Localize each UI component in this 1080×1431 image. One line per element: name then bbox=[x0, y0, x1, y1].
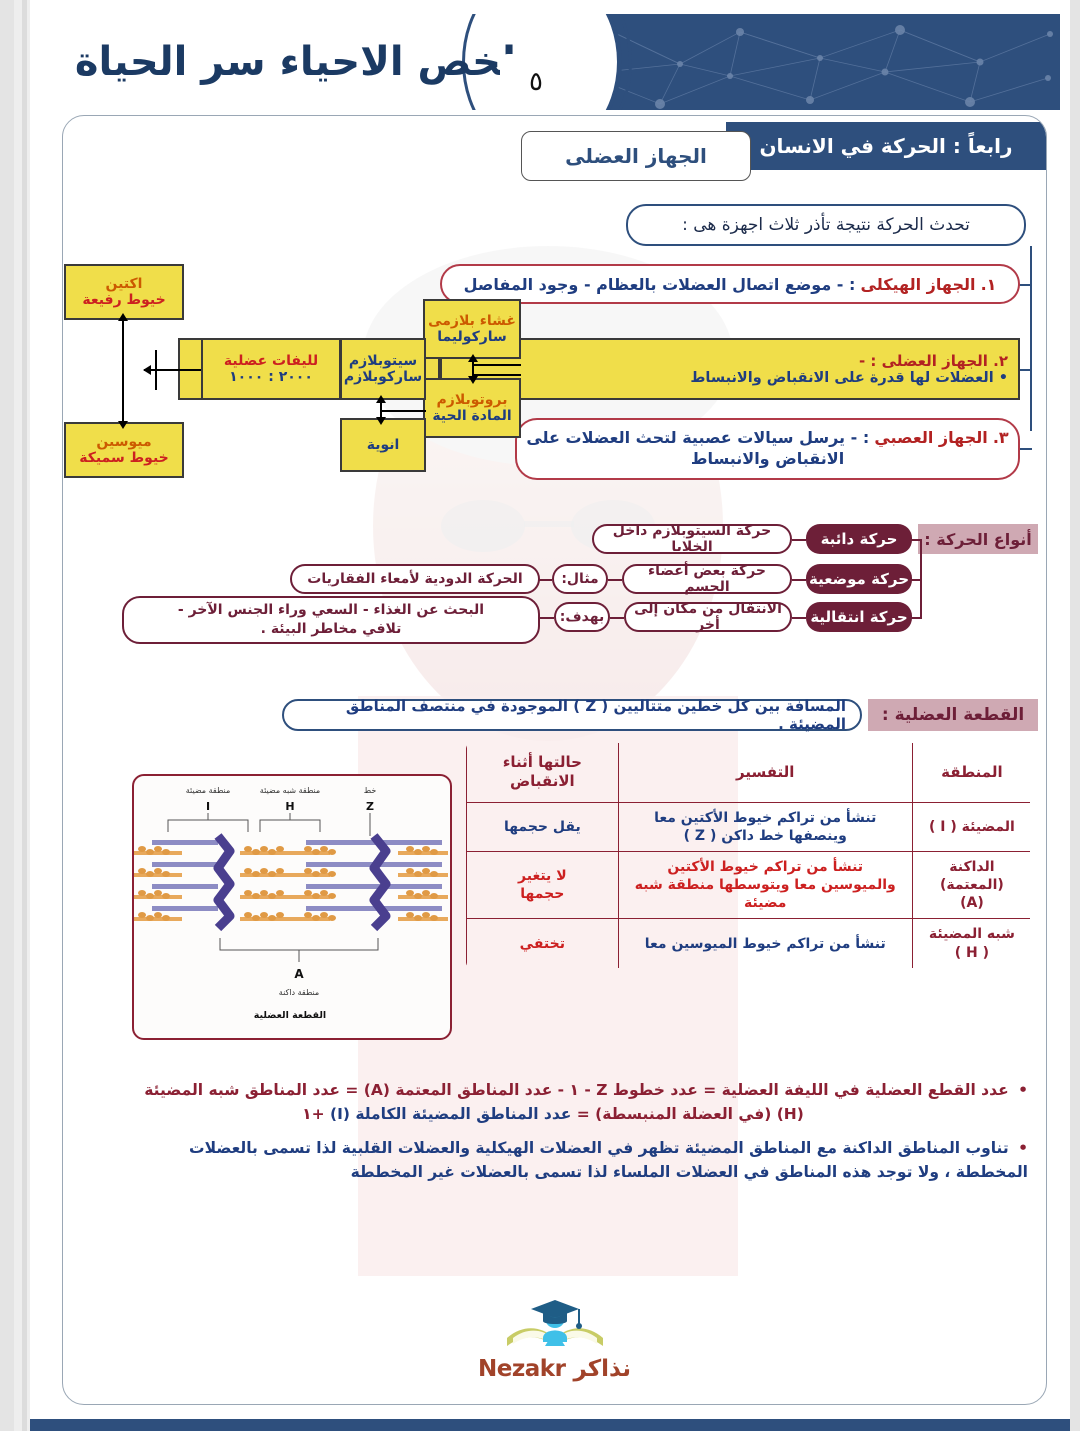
system-skeletal-body: : - موضع اتصال العضلات بالعظام - وجود ال… bbox=[464, 275, 856, 294]
cell-myosin-2: خيوط سميكة bbox=[79, 450, 169, 466]
fig-label-i-top: منطقة مضيئة bbox=[186, 786, 230, 795]
note-2-line1: تناوب المناطق الداكنة مع المناطق المضيئة… bbox=[189, 1139, 1009, 1157]
note-item-2: • تناوب المناطق الداكنة مع المناطق المضي… bbox=[78, 1136, 1028, 1184]
movement-keyword-3-text: بهدف: bbox=[560, 609, 604, 625]
cell-box-myosin: ميوسين خيوط سميكة bbox=[64, 422, 184, 478]
section-subtitle-label: الجهاز العضلى bbox=[565, 144, 707, 168]
cell-protoplasm-2: المادة الحية bbox=[432, 408, 511, 424]
sarcomere-diagram-icon: منطقة مضيئة منطقة شبه مضيئة خط I H Z bbox=[132, 776, 450, 1040]
sarcomere-label: القطعة العضلية : bbox=[868, 699, 1038, 731]
cell-actin-2: خيوط رفيعة bbox=[82, 292, 165, 308]
movement-keyword-2: مثال: bbox=[552, 564, 608, 594]
cell-cytoplasm-1: سيتوبلازم bbox=[349, 353, 417, 369]
note-1-b: خطوط Z - ١ bbox=[570, 1081, 665, 1099]
movement-val-link-3 bbox=[538, 617, 554, 619]
movement-value-3: البحث عن الغذاء - السعي وراء الجنس الآخر… bbox=[122, 596, 540, 644]
sarcomere-definition: المسافة بين كل خطين متتاليين ( Z ) الموج… bbox=[282, 699, 862, 731]
table-header-row: المنطقة التفسير حالتها أثناء الانقباض bbox=[466, 742, 1032, 802]
cell-state-i: يقل حجمها bbox=[466, 802, 618, 851]
cell-box-actin: اكتين خيوط رفيعة bbox=[64, 264, 184, 320]
graduate-book-logo-icon bbox=[501, 1294, 609, 1356]
movement-kw-link-3 bbox=[610, 617, 624, 619]
movement-desc-1: حركة السيتوبلازم داخل الخلايا bbox=[592, 524, 792, 554]
brand-name: نذاكر Nezakr bbox=[478, 1356, 631, 1382]
system-muscular-name: الجهاز العضلى : - bbox=[859, 352, 988, 370]
movement-spine bbox=[920, 539, 922, 619]
bullet-dot-1: • bbox=[1018, 1081, 1028, 1099]
cell-expl-a-1: تنشأ من تراكم خيوط الأكتين bbox=[627, 858, 904, 876]
note-item-1: • عدد القطع العضلية في الليفة العضلية = … bbox=[78, 1078, 1028, 1126]
note-1-f: +١ bbox=[302, 1105, 330, 1123]
cell-expl-h: تنشأ من تراكم خيوط الميوسين معا bbox=[618, 919, 912, 969]
cell-zone-a: الداكنة (المعتمة) (A) bbox=[912, 851, 1032, 919]
th-zone: المنطقة bbox=[912, 742, 1032, 802]
cell-zone-a-2: (المعتمة) bbox=[921, 876, 1023, 894]
cell-state-a: لا يتغير حجمها bbox=[466, 851, 618, 919]
cell-zone-h-2: ( H ) bbox=[921, 944, 1023, 962]
cell-expl-i: تنشأ من تراكم خيوط الأكتين معا وينصفها خ… bbox=[618, 802, 912, 851]
cell-nucleus-1: انوية bbox=[367, 437, 400, 453]
section-ribbon: رابعاً : الحركة في الانسان bbox=[726, 122, 1046, 170]
movement-desc-1-text: حركة السيتوبلازم داخل الخلايا bbox=[602, 523, 782, 555]
cell-state-a-1: لا يتغير bbox=[475, 867, 610, 885]
content-card: رابعاً : الحركة في الانسان الجهاز العضلى… bbox=[62, 115, 1047, 1405]
movement-link-3 bbox=[792, 617, 806, 619]
system-nervous: ٣. الجهاز العصبي : - يرسل سيالات عصبية ل… bbox=[515, 418, 1020, 480]
system-muscular-number: ٢. bbox=[993, 352, 1008, 370]
movement-type-3: حركة انتقالية bbox=[806, 602, 912, 632]
fig-label-h: H bbox=[285, 800, 294, 813]
cell-expl-i-1: تنشأ من تراكم خيوط الأكتين معا bbox=[627, 809, 904, 827]
movement-desc-2-text: حركة بعض أعضاء الجسم bbox=[632, 563, 782, 595]
intro-statement: تحدث الحركة نتيجة تأذر ثلاث اجهزة هى : bbox=[626, 204, 1026, 246]
movement-value-3-line1: البحث عن الغذاء - السعي وراء الجنس الآخر… bbox=[178, 601, 484, 620]
system-nervous-body-1: : - يرسل سيالات عصبية لتحث العضلات على bbox=[526, 428, 869, 447]
movement-desc-2: حركة بعض أعضاء الجسم bbox=[622, 564, 792, 594]
cell-expl-a-3: مضيئة bbox=[627, 894, 904, 912]
sarcomere-figure: منطقة مضيئة منطقة شبه مضيئة خط I H Z bbox=[132, 774, 452, 1040]
intro-text: تحدث الحركة نتيجة تأذر ثلاث اجهزة هى : bbox=[682, 215, 970, 235]
footer-bar bbox=[30, 1419, 1070, 1431]
page-left-edge bbox=[0, 0, 14, 1431]
cell-box-protoplasm: بروتوبلازم المادة الحية bbox=[423, 378, 521, 438]
movement-link-1 bbox=[792, 539, 806, 541]
cell-zone-h: شبه المضيئة ( H ) bbox=[912, 919, 1032, 969]
system-nervous-body-2: الانقباض والانبساط bbox=[691, 449, 844, 470]
section-subtitle-box: الجهاز العضلى bbox=[521, 131, 751, 181]
movement-type-2-label: حركة موضعية bbox=[809, 570, 909, 588]
page-left-edge-2 bbox=[22, 0, 27, 1431]
movement-desc-3-text: الانتقال من مكان إلى أخر bbox=[634, 601, 782, 633]
cell-expl-i-2: وينصفها خط داكن ( Z ) bbox=[627, 827, 904, 845]
cell-box-membrane: غشاء بلازمى ساركوليما bbox=[423, 299, 521, 359]
fig-label-a: A bbox=[294, 967, 304, 981]
movement-type-2: حركة موضعية bbox=[806, 564, 912, 594]
movement-kw-link-2 bbox=[608, 579, 622, 581]
system-skeletal-name: الجهاز الهيكلى bbox=[861, 275, 976, 294]
page-number: ٥ bbox=[529, 67, 543, 97]
systems-spine-line bbox=[1030, 246, 1032, 431]
cell-cytoplasm-2: ساركوبلازم bbox=[344, 369, 422, 385]
fig-caption: القطعة العضلية bbox=[254, 1010, 326, 1021]
document-title: ملخص الاحياء سر الحياة bbox=[75, 39, 542, 85]
cell-membrane-1: غشاء بلازمى bbox=[428, 313, 516, 329]
movement-type-3-label: حركة انتقالية bbox=[810, 608, 907, 626]
movement-value-2: الحركة الدودية لأمعاء الفقاريات bbox=[290, 564, 540, 594]
system-skeletal-number: ١. bbox=[981, 275, 997, 294]
cell-actin-1: اكتين bbox=[106, 276, 143, 292]
table-row: الداكنة (المعتمة) (A) تنشأ من تراكم خيوط… bbox=[466, 851, 1032, 919]
cell-protoplasm-1: بروتوبلازم bbox=[437, 392, 508, 408]
system-muscular-bullet: • العضلات لها قدرة على الانقباض والانبسا… bbox=[442, 370, 1008, 386]
cell-myosin-1: ميوسين bbox=[96, 434, 151, 450]
section-ribbon-label: رابعاً : الحركة في الانسان bbox=[759, 134, 1012, 158]
note-1-d: (H) (في العضلة المنبسطة) = bbox=[571, 1105, 803, 1123]
movement-types-label-text: أنواع الحركة : bbox=[924, 530, 1031, 549]
note-2-line2: المخططة ، ولا توجد هذه المناطق في العضلا… bbox=[78, 1160, 1028, 1184]
fig-label-i: I bbox=[206, 800, 210, 813]
note-1-c: - عدد المناطق المعتمة (A) = عدد المناطق … bbox=[144, 1081, 569, 1099]
movement-type-1: حركة دائبة bbox=[806, 524, 912, 554]
movement-value-2-text: الحركة الدودية لأمعاء الفقاريات bbox=[307, 570, 522, 589]
cell-expl-a: تنشأ من تراكم خيوط الأكتين والميوسين معا… bbox=[618, 851, 912, 919]
cell-fibrils-2: ٢٠٠٠ : ١٠٠٠ bbox=[229, 369, 313, 385]
cell-fibrils-1: لليفات عضلية bbox=[224, 353, 318, 369]
cell-expl-a-2: والميوسين معا ويتوسطها منطقة شبه bbox=[627, 876, 904, 894]
cytoplasm-nucleus-link bbox=[380, 410, 426, 412]
movement-type-1-label: حركة دائبة bbox=[821, 530, 898, 548]
page-root: ملخص الاحياء سر الحياة ٥ رابعاً : bbox=[0, 0, 1080, 1431]
movement-desc-3: الانتقال من مكان إلى أخر bbox=[624, 602, 792, 632]
system-nervous-name: الجهاز العصبي bbox=[874, 428, 987, 447]
note-1-a: عدد القطع العضلية في الليفة العضلية = عد… bbox=[665, 1081, 1009, 1099]
sarcomere-table: المنطقة التفسير حالتها أثناء الانقباض ال… bbox=[464, 741, 1032, 970]
movement-types-label: أنواع الحركة : bbox=[918, 524, 1038, 554]
table-row: شبه المضيئة ( H ) تنشأ من تراكم خيوط الم… bbox=[466, 919, 1032, 969]
cell-box-cytoplasm: سيتوبلازم ساركوبلازم bbox=[340, 338, 426, 400]
cell-zone-h-1: شبه المضيئة bbox=[921, 925, 1023, 943]
membrane-link-lower bbox=[473, 374, 521, 376]
cell-state-a-2: حجمها bbox=[475, 885, 610, 903]
cell-box-myofibrils: لليفات عضلية ٢٠٠٠ : ١٠٠٠ bbox=[201, 338, 341, 400]
sarcomere-label-text: القطعة العضلية : bbox=[882, 705, 1024, 725]
cell-zone-a-1: الداكنة bbox=[921, 858, 1023, 876]
system-skeletal: ١. الجهاز الهيكلى : - موضع اتصال العضلات… bbox=[440, 264, 1020, 304]
membrane-link-upper bbox=[473, 364, 521, 366]
banner-title-plate: ملخص الاحياء سر الحياة bbox=[40, 14, 560, 110]
table-row: المضيئة ( I ) تنشأ من تراكم خيوط الأكتين… bbox=[466, 802, 1032, 851]
fig-label-h-top: منطقة شبه مضيئة bbox=[260, 786, 320, 795]
movement-value-3-line2: تلافي مخاطر البيئة . bbox=[261, 620, 402, 639]
bullet-dot-2: • bbox=[1018, 1139, 1028, 1157]
movement-keyword-3: بهدف: bbox=[554, 602, 610, 632]
system-nervous-number: ٣. bbox=[993, 428, 1009, 447]
page-number-tab: ٥ bbox=[500, 54, 572, 109]
fig-label-z: Z bbox=[366, 800, 374, 813]
notes-list: • عدد القطع العضلية في الليفة العضلية = … bbox=[78, 1078, 1028, 1194]
movement-val-link-2 bbox=[538, 579, 552, 581]
sarcomere-definition-text: المسافة بين كل خطين متتاليين ( Z ) الموج… bbox=[298, 697, 846, 733]
cell-box-nucleus: انوية bbox=[340, 418, 426, 472]
fig-label-z-top: خط bbox=[364, 786, 377, 795]
cell-membrane-2: ساركوليما bbox=[437, 329, 507, 345]
note-1-e: عدد المناطق المضيئة الكاملة (I) bbox=[330, 1105, 571, 1123]
page-right-edge bbox=[1070, 0, 1080, 1431]
fibril-branch-vertical bbox=[155, 350, 157, 390]
cell-state-h: تختفي bbox=[466, 919, 618, 969]
footer-logo: نذاكر Nezakr bbox=[63, 1294, 1046, 1382]
movement-keyword-2-text: مثال: bbox=[561, 571, 598, 587]
th-state: حالتها أثناء الانقباض bbox=[466, 742, 618, 802]
system-muscular: ٢. الجهاز العضلى : - • العضلات لها قدرة … bbox=[440, 338, 1020, 400]
th-explanation: التفسير bbox=[618, 742, 912, 802]
movement-link-2 bbox=[792, 579, 806, 581]
fibril-branch-line bbox=[157, 369, 201, 371]
cell-zone-a-3: (A) bbox=[921, 894, 1023, 912]
fig-label-a-sub: منطقة داكنة bbox=[279, 988, 319, 997]
cell-zone-i: المضيئة ( I ) bbox=[912, 802, 1032, 851]
fibril-actin-myosin-arrow bbox=[122, 320, 124, 422]
